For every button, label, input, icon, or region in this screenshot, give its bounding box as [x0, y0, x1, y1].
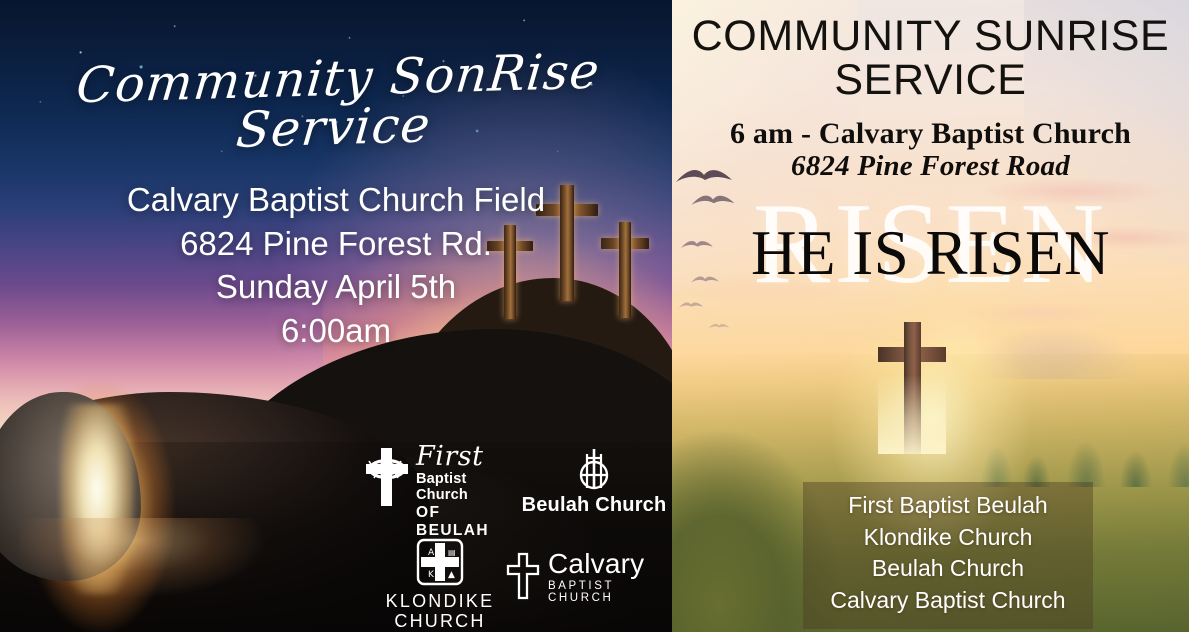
- svg-text:▲: ▲: [448, 570, 455, 580]
- calvary-text: Calvary BAPTIST CHURCH: [548, 550, 672, 604]
- logo-calvary-baptist-church: Calvary BAPTIST CHURCH: [506, 550, 672, 604]
- church-list-item: Calvary Baptist Church: [813, 585, 1083, 617]
- left-script-title: Community SonRise Service: [0, 44, 672, 161]
- first-baptist-text: First Baptist Church OF BEULAH: [416, 444, 516, 540]
- church-list-item: Klondike Church: [813, 522, 1083, 554]
- field-cross-light-fade: [878, 322, 946, 454]
- left-flyer-panel: Community SonRise Service Calvary Baptis…: [0, 0, 672, 632]
- left-flyer-text-block: Community SonRise Service Calvary Baptis…: [0, 0, 672, 352]
- outline-cross-icon: [506, 552, 540, 600]
- klondike-line2: CHURCH: [378, 611, 502, 631]
- right-flyer-subtitle: 6 am - Calvary Baptist Church 6824 Pine …: [672, 118, 1189, 182]
- calvary-line2: BAPTIST CHURCH: [548, 580, 672, 604]
- svg-text:K: K: [428, 570, 435, 580]
- klondike-shield-cross-icon: A ▤ K ▲: [414, 536, 466, 588]
- right-subtitle-line2: 6824 Pine Forest Road: [672, 150, 1189, 182]
- left-line-venue: Calvary Baptist Church Field: [0, 178, 672, 222]
- klondike-church-label: KLONDIKE CHURCH: [378, 591, 502, 631]
- svg-text:▤: ▤: [448, 548, 456, 557]
- left-line-address: 6824 Pine Forest Rd.: [0, 222, 672, 266]
- klondike-line1: KLONDIKE: [378, 591, 502, 611]
- tomb-rubble-highlight: [20, 518, 316, 632]
- left-line-time: 6:00am: [0, 309, 672, 353]
- svg-text:A: A: [428, 548, 435, 558]
- first-baptist-line1: First: [416, 444, 516, 470]
- cross-with-crown-of-thorns-icon: [364, 446, 410, 508]
- bird-icon: [708, 322, 730, 331]
- beulah-church-label: Beulah Church: [520, 494, 668, 517]
- he-is-risen-headline: HE IS RISEN: [672, 222, 1189, 285]
- left-line-date: Sunday April 5th: [0, 265, 672, 309]
- first-baptist-line3: OF BEULAH: [416, 504, 516, 540]
- left-logo-cluster: First Baptist Church OF BEULAH: [360, 440, 672, 632]
- logo-klondike-church: A ▤ K ▲ KLONDIKE CHURCH: [378, 536, 502, 631]
- right-title-line1: COMMUNITY SUNRISE: [672, 14, 1189, 58]
- church-list-item: Beulah Church: [813, 553, 1083, 585]
- right-title-line2: SERVICE: [672, 58, 1189, 102]
- right-subtitle-line1: 6 am - Calvary Baptist Church: [672, 118, 1189, 150]
- right-flyer-title: COMMUNITY SUNRISE SERVICE: [672, 14, 1189, 103]
- right-flyer-panel: RISEN COMMUNITY SUNRISE SERVICE 6 am - C…: [672, 0, 1189, 632]
- logo-first-baptist-church-of-beulah: First Baptist Church OF BEULAH: [364, 444, 516, 540]
- church-list-item: First Baptist Beulah: [813, 490, 1083, 522]
- logo-beulah-church: Beulah Church: [520, 446, 668, 517]
- first-baptist-line2: Baptist Church: [416, 471, 516, 503]
- flyer-pair-image: Community SonRise Service Calvary Baptis…: [0, 0, 1189, 632]
- beulah-monogram-icon: [572, 446, 616, 490]
- calvary-line1: Calvary: [548, 550, 672, 578]
- participating-churches-list: First Baptist Beulah Klondike Church Beu…: [803, 482, 1093, 629]
